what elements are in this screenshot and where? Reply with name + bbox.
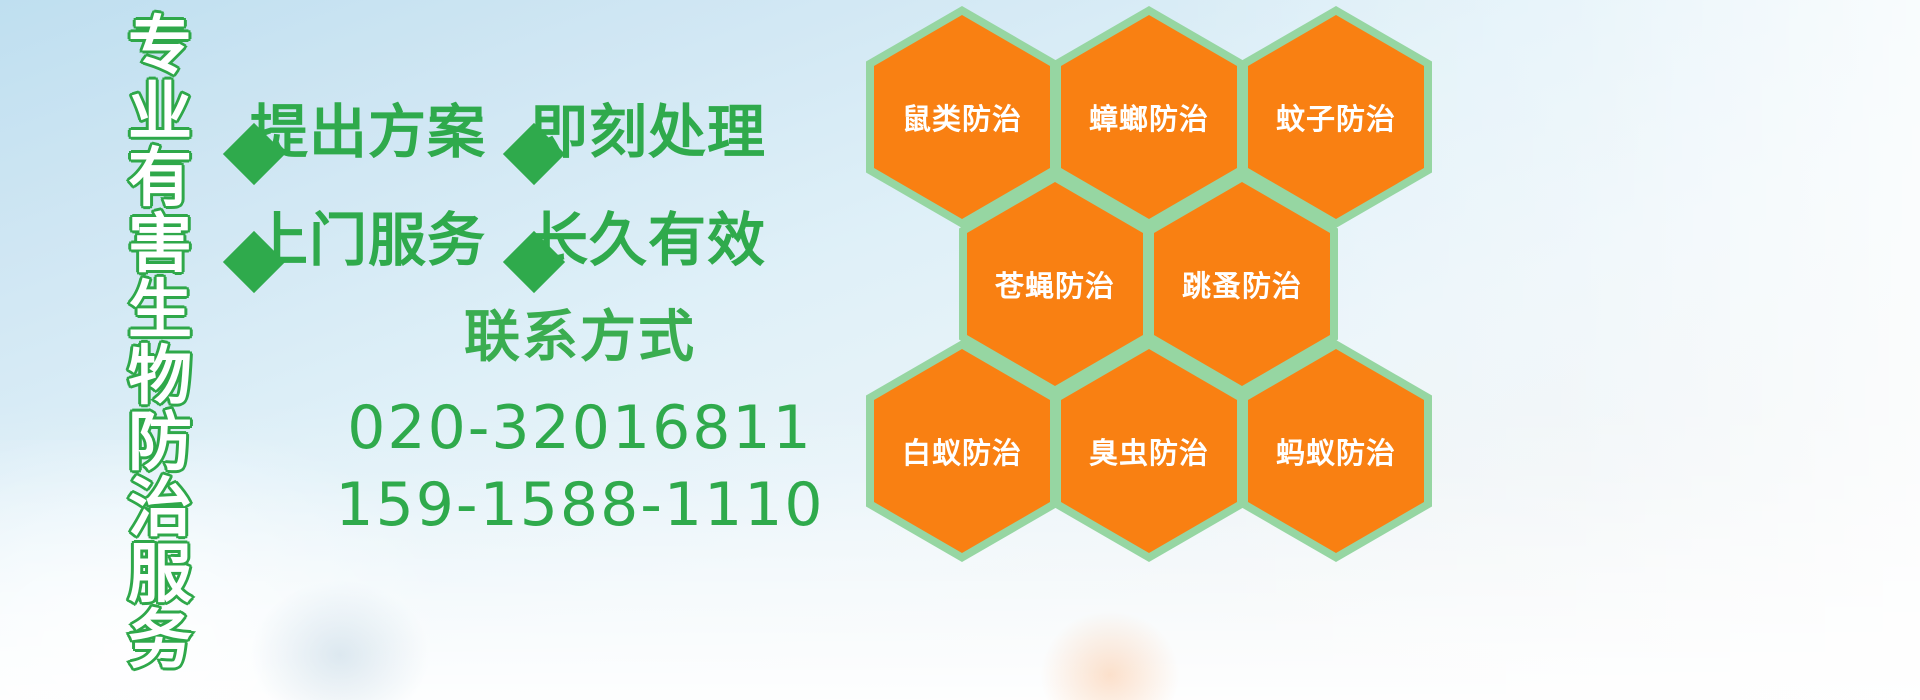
hex-label: 苍蝇防治 bbox=[995, 263, 1115, 305]
feature-item-long-lasting-effect: 长久有效 bbox=[512, 211, 766, 269]
hex-cell-ant-control[interactable]: 蚂蚁防治 bbox=[1240, 340, 1432, 562]
feature-list: 提出方案 即刻处理 上门服务 长久有效 bbox=[232, 78, 872, 294]
hex-label: 鼠类防治 bbox=[902, 96, 1022, 138]
hex-label: 跳蚤防治 bbox=[1182, 263, 1302, 305]
vertical-title-char: 治 bbox=[128, 476, 192, 542]
vertical-title-char: 生 bbox=[128, 278, 192, 344]
hex-label: 白蚁防治 bbox=[902, 430, 1022, 472]
hex-label: 臭虫防治 bbox=[1089, 430, 1209, 472]
phone-number-mobile[interactable]: 159-1588-1110 bbox=[300, 467, 860, 544]
vertical-title: 专 业 有 害 生 物 防 治 服 务 bbox=[112, 14, 208, 674]
feature-label: 即刻处理 bbox=[530, 103, 766, 161]
hex-label: 蚊子防治 bbox=[1276, 96, 1396, 138]
hex-label: 蟑螂防治 bbox=[1089, 96, 1209, 138]
pest-control-banner: 专 业 有 害 生 物 防 治 服 务 提出方案 即刻处理 上门服务 bbox=[0, 0, 1920, 700]
feature-row: 提出方案 即刻处理 bbox=[232, 78, 872, 186]
feature-item-door-to-door-service: 上门服务 bbox=[232, 211, 486, 269]
vertical-title-char: 害 bbox=[128, 212, 192, 278]
vertical-title-char: 务 bbox=[128, 608, 192, 674]
contact-title: 联系方式 bbox=[300, 310, 860, 366]
vertical-title-char: 业 bbox=[128, 80, 192, 146]
feature-label: 长久有效 bbox=[530, 211, 766, 269]
feature-label: 上门服务 bbox=[250, 211, 486, 269]
vertical-title-char: 有 bbox=[128, 146, 192, 212]
feature-row: 上门服务 长久有效 bbox=[232, 186, 872, 294]
vertical-title-char: 专 bbox=[128, 14, 192, 80]
background-blob-left bbox=[250, 580, 430, 700]
services-honeycomb: 鼠类防治 蟑螂防治 蚊子防治 苍蝇防治 跳蚤防治 白蚁防治 bbox=[856, 0, 1476, 570]
hex-label: 蚂蚁防治 bbox=[1276, 430, 1396, 472]
hex-cell-bedbug-control[interactable]: 臭虫防治 bbox=[1053, 340, 1245, 562]
feature-item-propose-plan: 提出方案 bbox=[232, 103, 486, 161]
vertical-title-char: 防 bbox=[128, 410, 192, 476]
hex-cell-termite-control[interactable]: 白蚁防治 bbox=[866, 340, 1058, 562]
background-blob-center bbox=[1040, 610, 1180, 700]
vertical-title-char: 物 bbox=[128, 344, 192, 410]
vertical-title-char: 服 bbox=[128, 542, 192, 608]
feature-item-immediate-handling: 即刻处理 bbox=[512, 103, 766, 161]
contact-block: 联系方式 020-32016811 159-1588-1110 bbox=[300, 310, 860, 544]
feature-label: 提出方案 bbox=[250, 103, 486, 161]
phone-number-landline[interactable]: 020-32016811 bbox=[300, 390, 860, 467]
